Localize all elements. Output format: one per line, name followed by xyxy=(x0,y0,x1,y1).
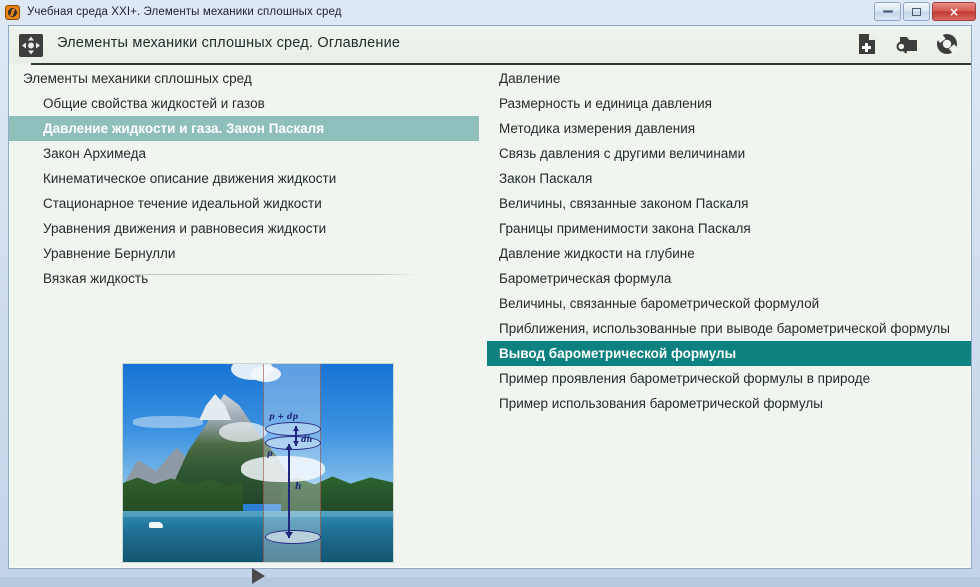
header-divider xyxy=(31,63,971,65)
help-ring-icon[interactable] xyxy=(935,32,959,56)
maximize-button[interactable] xyxy=(903,2,930,21)
play-button[interactable] xyxy=(122,565,394,587)
header-toolbar xyxy=(855,32,959,56)
toc-item[interactable]: Приближения, использованные при выводе б… xyxy=(487,316,971,341)
close-button[interactable]: × xyxy=(932,2,976,21)
toc-right-column: Давление Размерность и единица давления … xyxy=(487,66,971,416)
section-divider xyxy=(109,274,417,275)
page-header: Элементы механики сплошных сред. Оглавле… xyxy=(9,26,971,64)
toc-item[interactable]: Закон Паскаля xyxy=(487,166,971,191)
toc-item[interactable]: Вязкая жидкость xyxy=(9,266,479,291)
toc-item[interactable]: Пример использования барометрической фор… xyxy=(487,391,971,416)
toc-item[interactable]: Элементы механики сплошных сред xyxy=(9,66,479,91)
client-area: Элементы механики сплошных сред. Оглавле… xyxy=(8,25,972,569)
application-window: Учебная среда XXI+. Элементы механики сп… xyxy=(0,0,980,577)
toc-item[interactable]: Общие свойства жидкостей и газов xyxy=(9,91,479,116)
play-triangle-icon xyxy=(252,568,265,584)
cloud-decor xyxy=(219,422,267,442)
toc-item[interactable]: Связь давления с другими величинами xyxy=(487,141,971,166)
toc-item[interactable]: Уравнения движения и равновесия жидкости xyxy=(9,216,479,241)
label-pressure-top: p + dp xyxy=(269,411,298,421)
toc-item[interactable]: Пример проявления барометрической формул… xyxy=(487,366,971,391)
toc-item[interactable]: Давление жидкости на глубине xyxy=(487,241,971,266)
barometric-formula-illustration[interactable]: p + dp dh p h xyxy=(122,363,394,563)
content-area: Элементы механики сплошных сред Общие св… xyxy=(9,66,971,568)
move-arrows-icon[interactable] xyxy=(19,34,43,57)
toc-item[interactable]: Границы применимости закона Паскаля xyxy=(487,216,971,241)
toc-item[interactable]: Величины, связанные барометрической форм… xyxy=(487,291,971,316)
page-title: Элементы механики сплошных сред. Оглавле… xyxy=(57,35,400,51)
toc-item[interactable]: Кинематическое описание движения жидкост… xyxy=(9,166,479,191)
toc-item[interactable]: Величины, связанные законом Паскаля xyxy=(487,191,971,216)
toc-item[interactable]: Барометрическая формула xyxy=(487,266,971,291)
h-arrow xyxy=(288,444,290,538)
water-surface xyxy=(123,511,393,562)
title-bar: Учебная среда XXI+. Элементы механики сп… xyxy=(0,0,980,24)
minimize-button[interactable] xyxy=(874,2,901,21)
toc-item[interactable]: Размерность и единица давления xyxy=(487,91,971,116)
toc-item[interactable]: Стационарное течение идеальной жидкости xyxy=(9,191,479,216)
toc-item-selected[interactable]: Давление жидкости и газа. Закон Паскаля xyxy=(9,116,479,141)
toc-item-selected[interactable]: Вывод барометрической формулы xyxy=(487,341,971,366)
preview-panel: p + dp dh p h xyxy=(122,363,394,563)
toc-left-column: Элементы механики сплошных сред Общие св… xyxy=(9,66,479,291)
label-pressure-bottom: p xyxy=(267,448,273,458)
toc-item[interactable]: Закон Архимеда xyxy=(9,141,479,166)
cloud-decor xyxy=(133,416,203,428)
new-document-icon[interactable] xyxy=(855,32,879,56)
label-height: h xyxy=(295,482,302,492)
toc-item[interactable]: Давление xyxy=(487,66,971,91)
boat-decor xyxy=(149,522,163,528)
close-icon: × xyxy=(949,6,959,18)
search-folder-icon[interactable] xyxy=(895,32,919,56)
toc-item[interactable]: Уравнение Бернулли xyxy=(9,241,479,266)
dh-arrow xyxy=(295,426,297,446)
window-title: Учебная среда XXI+. Элементы механики сп… xyxy=(27,6,342,18)
label-height-element: dh xyxy=(301,434,312,444)
window-controls: × xyxy=(874,2,976,21)
column-ellipse-bottom xyxy=(265,530,321,544)
app-logo-icon xyxy=(5,5,20,20)
maximize-icon xyxy=(912,8,921,16)
toc-item[interactable]: Методика измерения давления xyxy=(487,116,971,141)
minimize-icon xyxy=(883,10,893,13)
